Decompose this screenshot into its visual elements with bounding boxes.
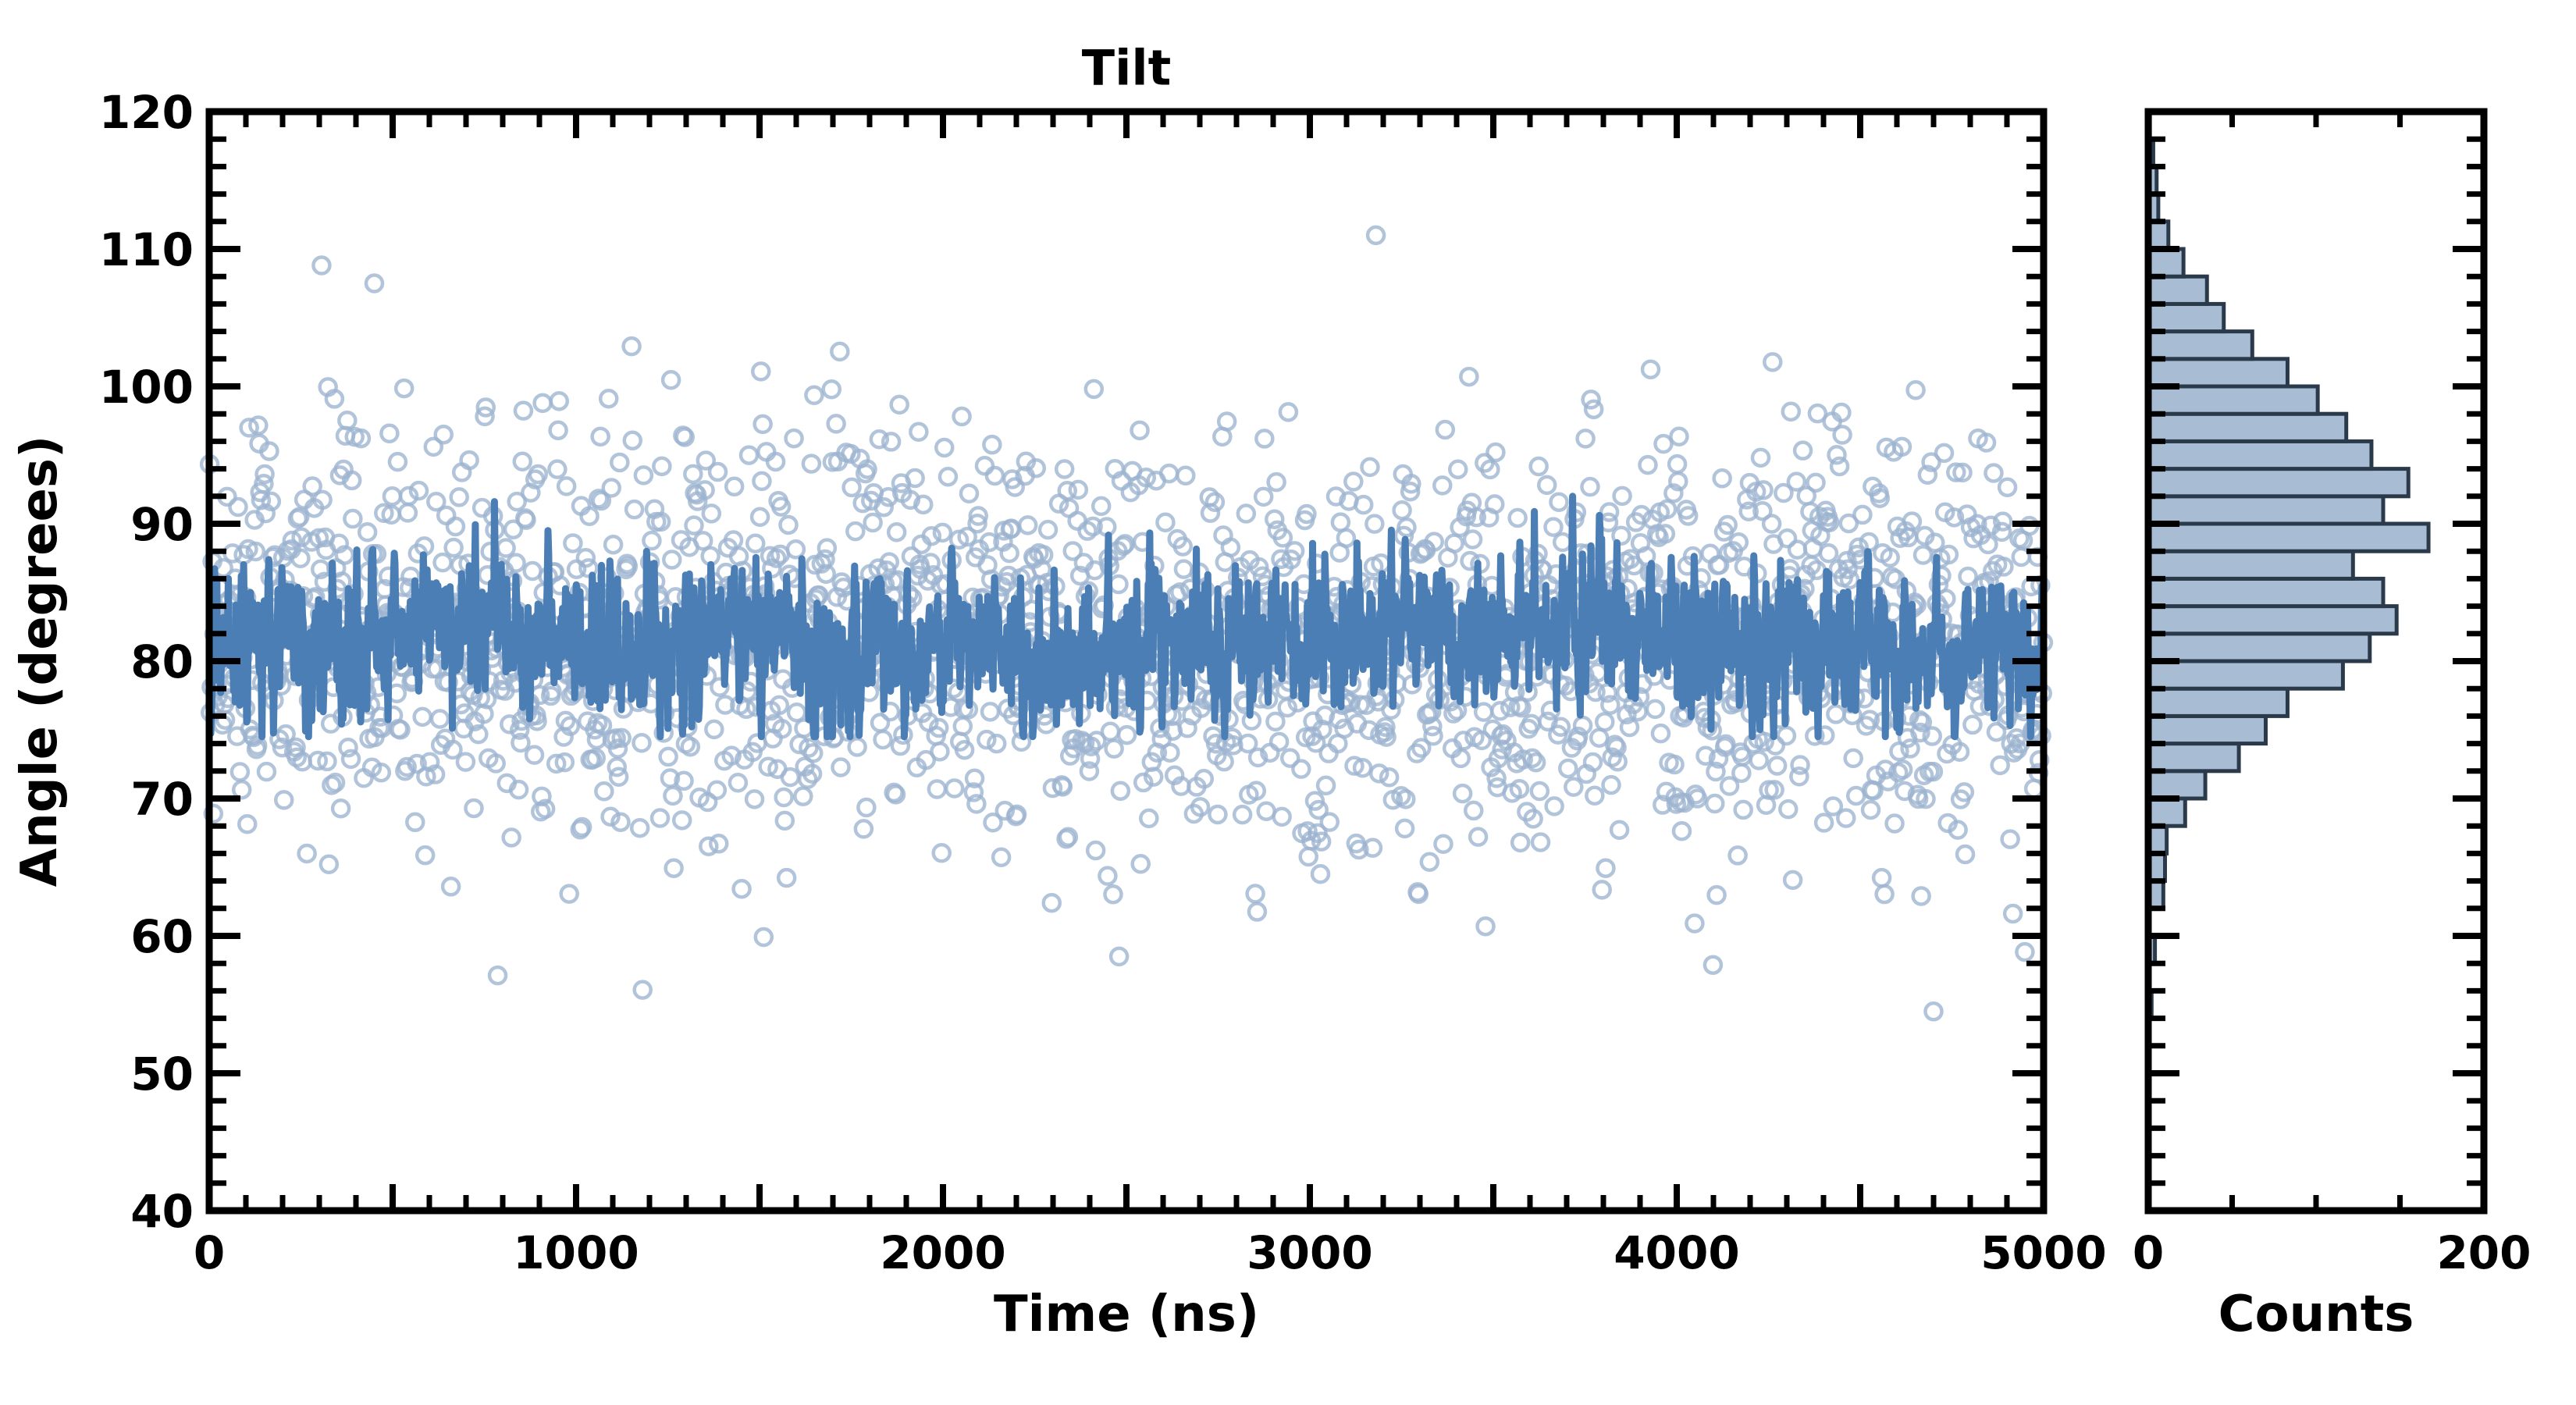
histogram-bar [2148,578,2383,606]
histogram-bar [2148,524,2428,551]
histogram-bar [2148,744,2239,771]
histogram-bar [2148,606,2396,634]
x-tick-label: 1000 [513,1226,639,1279]
x-tick-label: 3000 [1247,1226,1372,1279]
histogram-bar [2148,304,2224,331]
histogram-bar [2148,276,2207,304]
histogram-bar [2148,551,2353,578]
x-tick-label: 2000 [880,1226,1005,1279]
histogram-bar [2148,414,2347,441]
tilt-figure: 010002000300040005000 405060708090100110… [0,0,2576,1405]
x-tick-label: 4000 [1614,1226,1739,1279]
histogram-bar [2148,441,2371,468]
histogram-bar [2148,771,2205,799]
histogram-bar [2148,716,2266,743]
hist-x-tick-label: 200 [2436,1226,2531,1279]
histogram-bar [2148,661,2343,688]
y-tick-label: 40 [130,1185,194,1238]
y-tick-label: 90 [130,498,194,551]
plot-title: Tilt [1082,39,1171,96]
histogram-bar [2148,799,2185,826]
y-tick-label: 120 [99,86,194,139]
x-tick-label: 5000 [1980,1226,2106,1279]
histogram-bar [2148,332,2252,359]
y-tick-label: 70 [130,773,194,826]
hist-x-tick-label: 0 [2133,1226,2164,1279]
x-tick-label: 0 [194,1226,225,1279]
y-tick-label: 50 [130,1048,194,1101]
figure-root: 010002000300040005000 405060708090100110… [0,0,2576,1405]
histogram-bar [2148,469,2408,496]
y-tick-label: 100 [99,361,194,414]
main-y-axis-label: Angle (degrees) [11,436,69,887]
histogram-bar [2148,496,2383,524]
y-tick-label: 110 [99,223,194,276]
histogram-bar [2148,249,2183,276]
histogram-bar [2148,359,2287,386]
y-tick-label: 60 [130,910,194,963]
histogram-bar [2148,634,2370,661]
histogram-bar [2148,688,2287,716]
histogram-x-axis-label: Counts [2218,1286,2414,1343]
y-tick-label: 80 [130,635,194,688]
histogram-bar [2148,386,2318,414]
main-x-axis-label: Time (ns) [994,1286,1259,1343]
